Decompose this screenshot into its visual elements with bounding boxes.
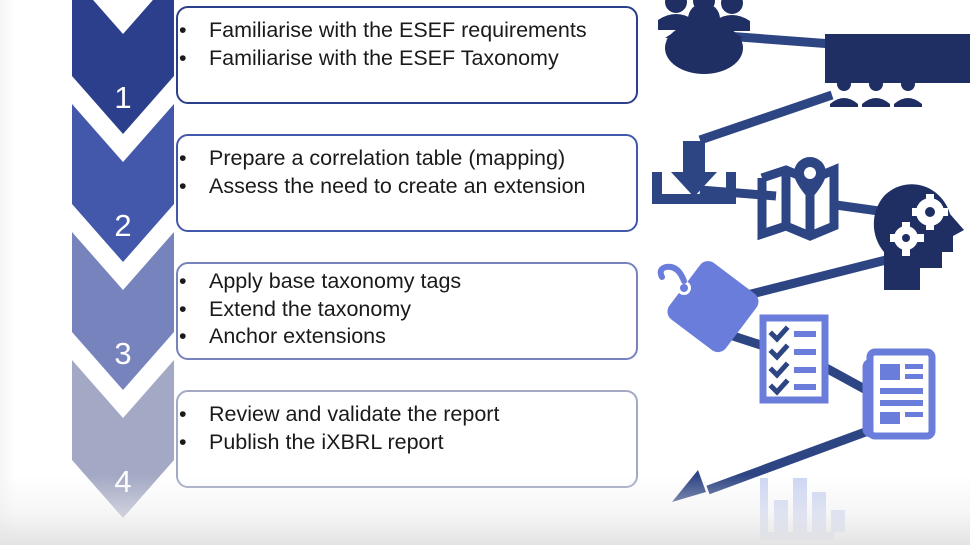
step-number-3: 3 [103,336,143,372]
slide-canvas: 1 2 3 4 Familiarise with the ESEF requir… [0,0,970,545]
bullet-item: Apply base taxonomy tags [194,268,622,296]
bullet-item: Familiarise with the ESEF requirements [194,17,622,45]
step-number-2: 2 [103,208,143,244]
newspaper-icon [866,352,932,436]
people-group-icon [658,0,750,74]
step-textbox-4[interactable]: Review and validate the report Publish t… [176,390,638,488]
step-textbox-1[interactable]: Familiarise with the ESEF requirements F… [176,6,638,104]
download-tray-icon [652,141,736,204]
connector-2 [700,95,832,140]
step-bullet-list-2: Prepare a correlation table (mapping) As… [194,145,622,200]
bullet-item: Familiarise with the ESEF Taxonomy [194,45,622,73]
step-bullet-list-1: Familiarise with the ESEF requirements F… [194,17,622,72]
step-number-1: 1 [103,80,143,116]
step-textbox-3[interactable]: Apply base taxonomy tags Extend the taxo… [176,262,638,360]
step-bullet-list-3: Apply base taxonomy tags Extend the taxo… [194,268,622,351]
checklist-icon [763,318,825,400]
step-bullet-list-4: Review and validate the report Publish t… [194,401,622,456]
presentation-screen-icon [825,34,970,107]
step-textbox-2[interactable]: Prepare a correlation table (mapping) As… [176,134,638,232]
head-gears-icon [874,184,964,290]
step-number-4: 4 [103,464,143,500]
map-pin-icon [794,157,826,200]
bullet-item: Extend the taxonomy [194,296,622,324]
bullet-item: Review and validate the report [194,401,622,429]
process-illustration [648,0,970,545]
bullet-item: Prepare a correlation table (mapping) [194,145,622,173]
bar-chart-icon [760,478,845,540]
bullet-item: Assess the need to create an extension [194,173,622,201]
bullet-item: Publish the iXBRL report [194,429,622,457]
bullet-item: Anchor extensions [194,323,622,351]
